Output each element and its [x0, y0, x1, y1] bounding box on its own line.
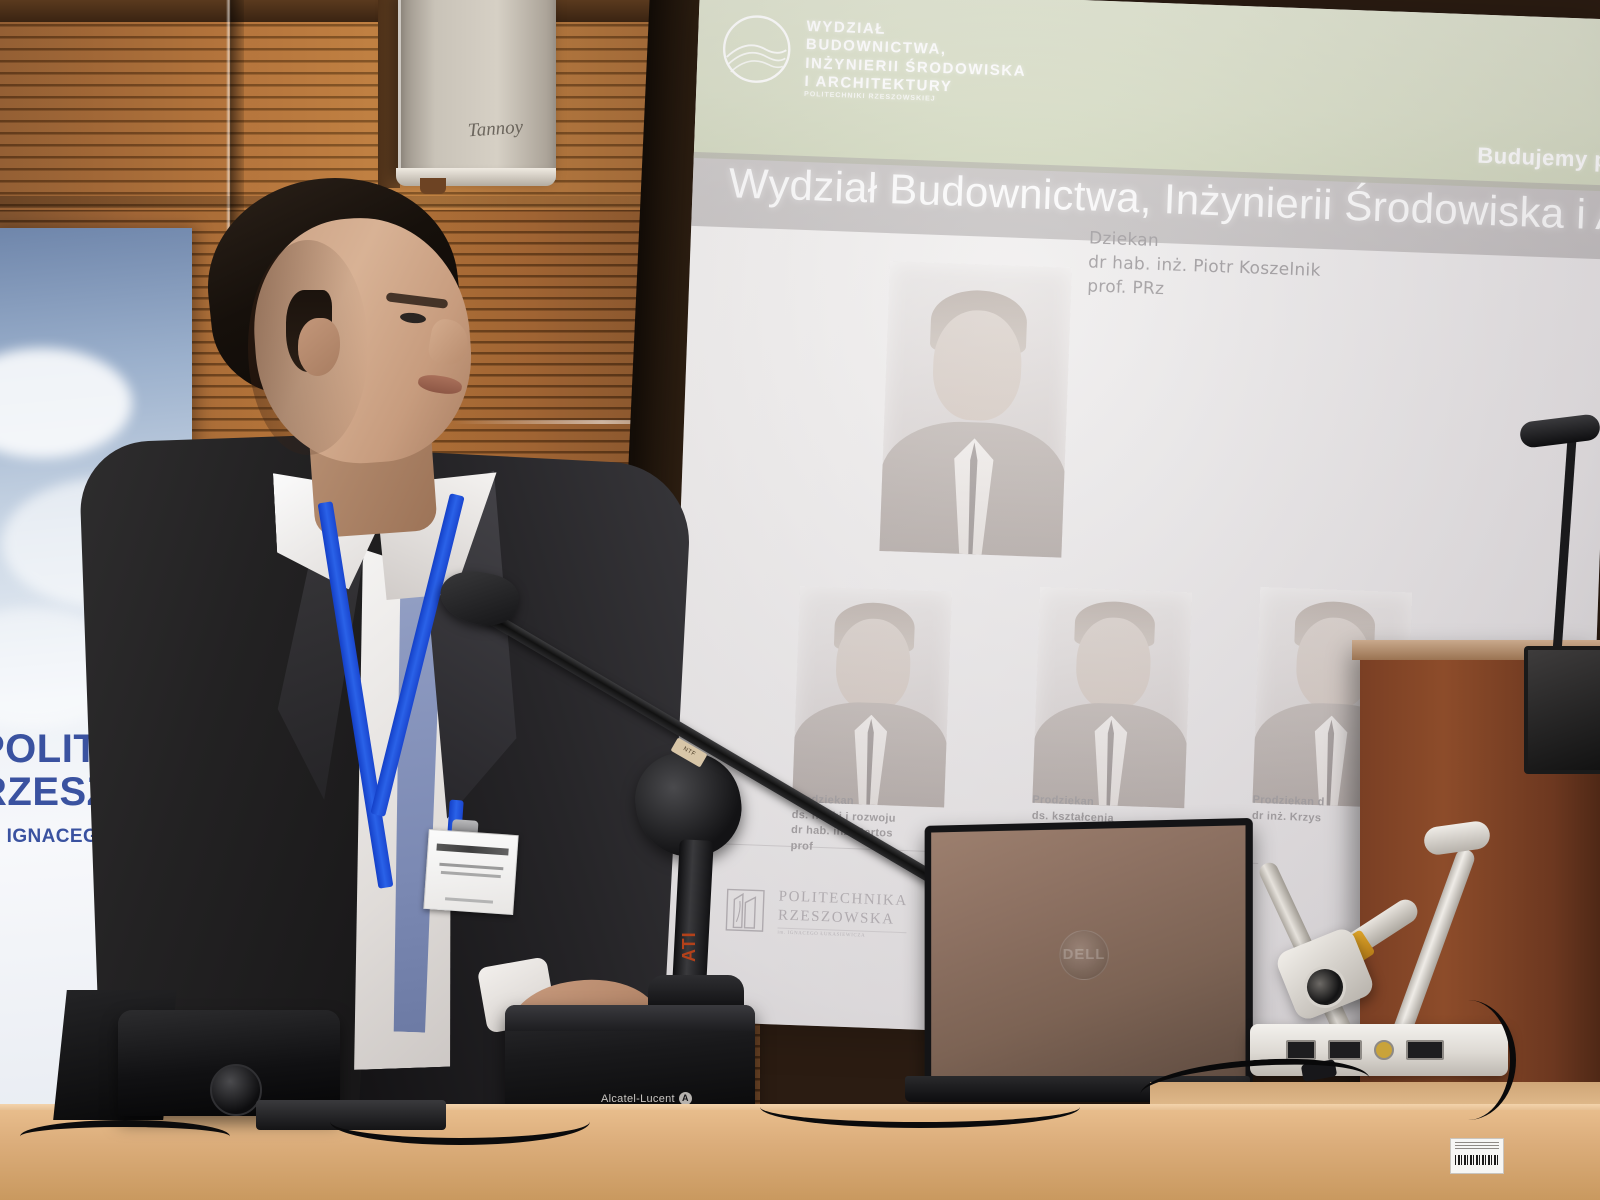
dean-role: Dziekan [1089, 228, 1160, 251]
dean-portrait [879, 261, 1072, 557]
dean-caption: Dziekan dr hab. inż. Piotr Koszelnik pro… [1087, 226, 1322, 307]
speaker-wall-recess [378, 0, 400, 188]
dean-suffix: prof. PRz [1087, 277, 1165, 300]
vice-dean-portrait-2 [1032, 587, 1192, 808]
cable-4 [1420, 1000, 1516, 1120]
vice-dean-portrait-1 [792, 586, 952, 807]
speaker-brand-logo: Tannoy [467, 116, 539, 147]
faculty-logo-text: WYDZIAŁ BUDOWNICTWA, INŻYNIERII ŚRODOWIS… [804, 18, 1028, 108]
equipment-knob[interactable] [210, 1064, 262, 1116]
footer-line-2: RZESZOWSKA [778, 906, 908, 929]
conference-brand-label: Alcatel-Lucent [601, 1093, 675, 1105]
speaker-person [80, 170, 640, 1110]
cable-5 [760, 1086, 1080, 1128]
slide-tagline: Budujemy p [1477, 143, 1600, 174]
conference-unit-top [505, 1005, 755, 1031]
inventory-barcode-sticker [1450, 1138, 1504, 1174]
wall-speaker [398, 0, 556, 180]
vd3-role: Prodziekan d [1252, 794, 1324, 809]
visualizer-port-3[interactable] [1374, 1040, 1394, 1060]
vd3-scope: dr inż. Krzys [1252, 809, 1322, 824]
visualizer-port-2[interactable] [1328, 1040, 1362, 1060]
faculty-logo-icon [718, 11, 795, 88]
microphone-stem-label: ATI [678, 900, 700, 962]
lecture-hall-photo: Tannoy WYDZIAŁ BUDOWNICTWA, INŻYNIERII Ś… [0, 0, 1600, 1200]
visualizer-port-1[interactable] [1286, 1040, 1316, 1060]
dell-logo-icon: DELL [1059, 930, 1108, 980]
cable-1 [20, 1120, 230, 1153]
laptop-lid: DELL [925, 818, 1253, 1102]
university-crest-icon [723, 887, 767, 935]
slide-footer: POLITECHNIKA RZESZOWSKA im. IGNACEGO ŁUK… [723, 886, 908, 941]
vice-dean-caption-3: Prodziekan d dr inż. Krzys [1252, 793, 1325, 827]
footer-line-3: im. IGNACEGO ŁUKASIEWICZA [777, 927, 906, 941]
desk-front-panel [0, 1110, 1600, 1200]
conference-microphone-unit[interactable]: Alcatel-Lucent A [505, 1005, 755, 1117]
lectern-monitor [1524, 646, 1600, 774]
vd2-role: Prodziekan [1032, 794, 1094, 808]
cable-2 [330, 1098, 590, 1145]
name-badge [423, 829, 518, 915]
